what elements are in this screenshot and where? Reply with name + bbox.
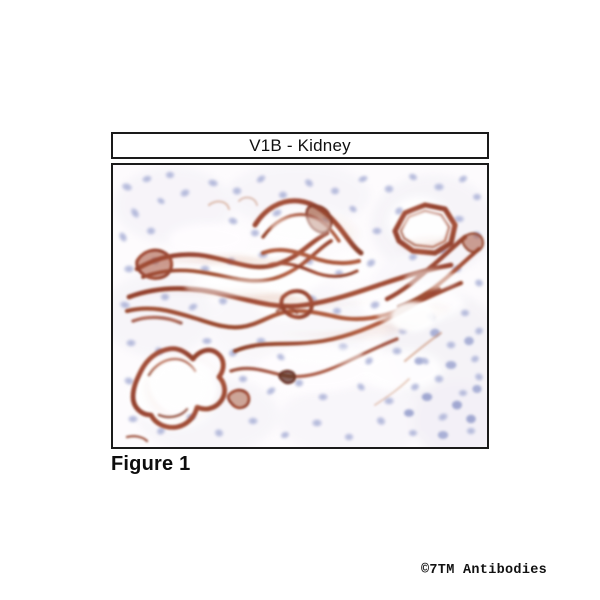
micrograph-frame (111, 163, 489, 449)
kidney-immunohistochemistry-micrograph (113, 165, 487, 447)
figure-block: V1B - Kidney (111, 132, 489, 449)
copyright-notice: ©7TM Antibodies (421, 563, 547, 578)
panel-title-box: V1B - Kidney (111, 132, 489, 159)
panel-title-label: V1B - Kidney (249, 137, 351, 154)
figure-caption: Figure 1 (111, 453, 190, 476)
